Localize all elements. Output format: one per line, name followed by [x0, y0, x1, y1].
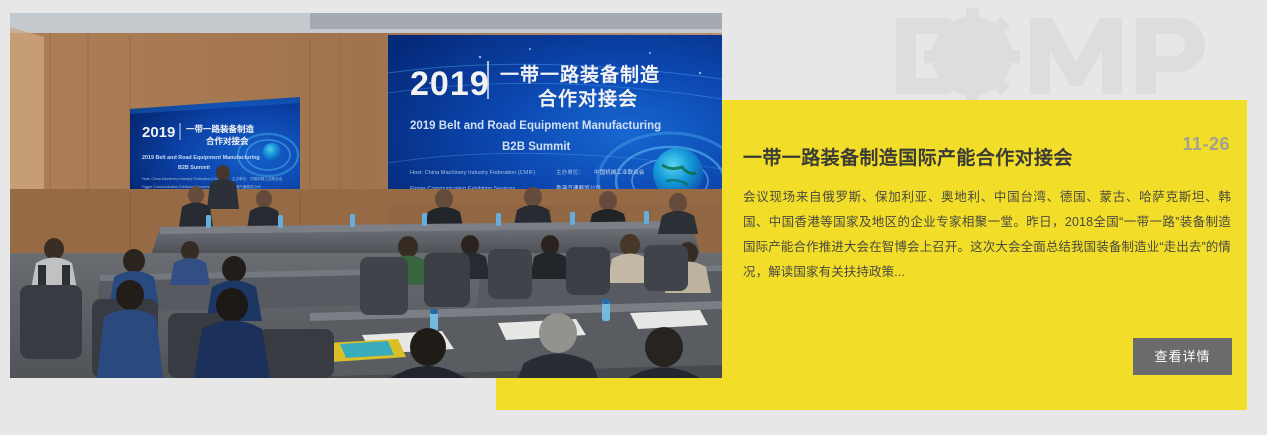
- news-date: 11-26: [1182, 133, 1230, 155]
- news-card-banner: 一带一路装备制造国际产能合作对接会 11-26 会议现场来自俄罗斯、保加利亚、奥…: [0, 0, 1267, 435]
- view-details-button[interactable]: 查看详情: [1133, 338, 1232, 375]
- dmp-watermark-logo: [880, 8, 1230, 104]
- gear-icon: [924, 8, 1020, 104]
- news-card-content: 一带一路装备制造国际产能合作对接会 11-26 会议现场来自俄罗斯、保加利亚、奥…: [743, 100, 1233, 410]
- news-description: 会议现场来自俄罗斯、保加利亚、奥地利、中国台湾、德国、蒙古、哈萨克斯坦、韩国、中…: [743, 185, 1231, 285]
- news-title[interactable]: 一带一路装备制造国际产能合作对接会: [743, 147, 1073, 171]
- news-photo[interactable]: 2019 一带一路装备制造 合作对接会 2019 Belt and Road E…: [10, 13, 722, 378]
